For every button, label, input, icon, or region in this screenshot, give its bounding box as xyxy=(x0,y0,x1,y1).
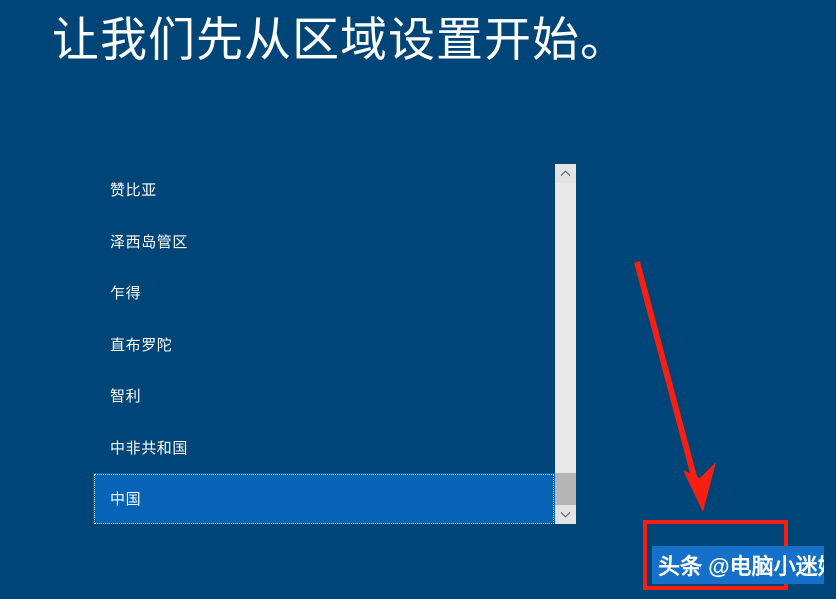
region-item-label: 赞比亚 xyxy=(110,179,157,200)
list-item[interactable]: 泽西岛管区 xyxy=(93,216,555,268)
region-item-label: 直布罗陀 xyxy=(110,334,172,355)
scrollbar-thumb[interactable] xyxy=(555,473,576,505)
scrollbar[interactable] xyxy=(555,164,576,524)
list-item-selected[interactable]: 中国 xyxy=(93,473,555,524)
watermark: 头条 @电脑小迷妹 xyxy=(652,546,824,584)
region-item-label: 乍得 xyxy=(110,282,141,303)
region-list[interactable]: 赞比亚 泽西岛管区 乍得 直布罗陀 智利 中非共和国 中国 xyxy=(93,164,555,524)
list-item[interactable]: 智利 xyxy=(93,370,555,422)
scrollbar-track[interactable] xyxy=(555,183,576,505)
list-item[interactable]: 乍得 xyxy=(93,267,555,319)
region-item-label: 智利 xyxy=(110,385,141,406)
watermark-text: 头条 @电脑小迷妹 xyxy=(658,549,824,581)
region-item-label: 中国 xyxy=(110,488,141,509)
page-title: 让我们先从区域设置开始。 xyxy=(52,12,628,67)
list-item[interactable]: 赞比亚 xyxy=(93,164,555,216)
region-item-label: 中非共和国 xyxy=(110,437,188,458)
chevron-up-icon[interactable] xyxy=(555,164,576,183)
list-item[interactable]: 直布罗陀 xyxy=(93,319,555,371)
region-list-container: 赞比亚 泽西岛管区 乍得 直布罗陀 智利 中非共和国 中国 xyxy=(93,164,576,524)
list-item[interactable]: 中非共和国 xyxy=(93,422,555,474)
region-item-label: 泽西岛管区 xyxy=(110,231,188,252)
chevron-down-icon[interactable] xyxy=(555,505,576,524)
